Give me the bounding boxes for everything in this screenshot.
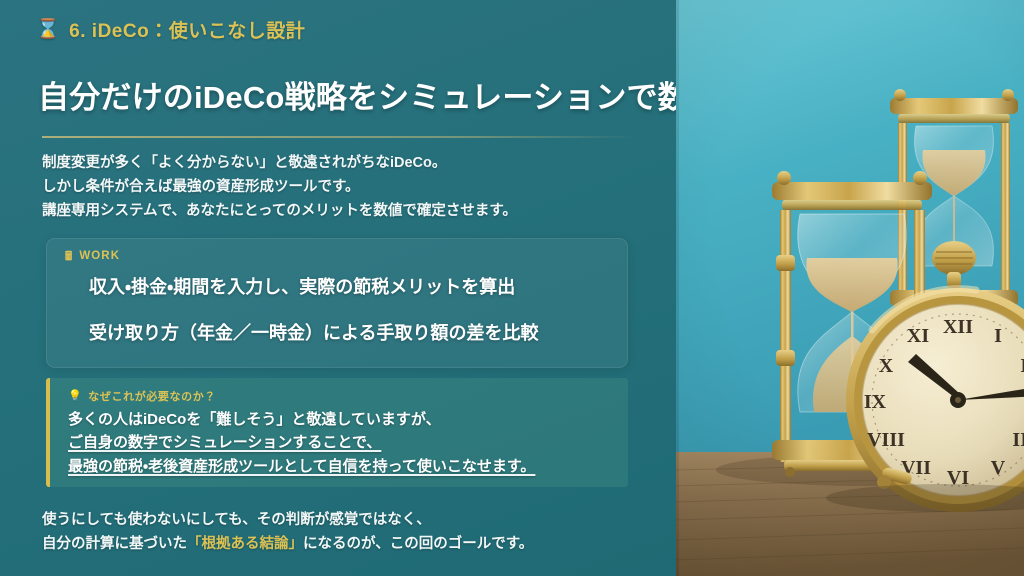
page-title: 自分だけのiDeCo戦略をシミュレーションで数値化 bbox=[38, 72, 636, 117]
footer-line-2: 自分の計算に基づいた「根拠ある結論」になるのが、この回のゴールです。 bbox=[42, 532, 636, 556]
lead-line-3: 講座専用システムで、あなたにとってのメリットを数値で確定させます。 bbox=[42, 199, 636, 223]
work-card-label-text: WORK bbox=[79, 250, 120, 262]
slide-root: ⌛ 6. iDeCo：使いこなし設計 自分だけのiDeCo戦略をシミュレーション… bbox=[0, 0, 1024, 576]
work-card: 🖩 WORK 収入・掛金・期間を入力し、実際の節税メリットを算出 受け取り方（年… bbox=[46, 238, 628, 368]
why-callout-heading-text: なぜこれが必要なのか？ bbox=[88, 388, 216, 404]
why-callout: 💡 なぜこれが必要なのか？ 多くの人はiDeCoを「難しそう」と敬遠していますが… bbox=[46, 378, 628, 487]
svg-text:VIII: VIII bbox=[867, 429, 905, 451]
content-panel: ⌛ 6. iDeCo：使いこなし設計 自分だけのiDeCo戦略をシミュレーション… bbox=[0, 0, 676, 576]
work-item: 収入・掛金・期間を入力し、実際の節税メリットを算出 bbox=[89, 275, 609, 299]
section-eyebrow-label: 6. iDeCo：使いこなし設計 bbox=[69, 16, 305, 43]
title-divider bbox=[42, 136, 637, 138]
svg-text:II: II bbox=[1020, 355, 1024, 377]
footer-paragraph: 使うにしても使わないにしても、その判断が感覚ではなく、 自分の計算に基づいた「根… bbox=[42, 508, 636, 556]
why-callout-heading: 💡 なぜこれが必要なのか？ bbox=[68, 388, 216, 404]
lead-line-1: 制度変更が多く「よく分からない」と敬遠されがちなiDeCo。 bbox=[42, 151, 636, 175]
footer-highlight: 「根拠ある結論」 bbox=[187, 536, 303, 552]
work-card-items: 収入・掛金・期間を入力し、実際の節税メリットを算出 受け取り方（年金／一時金）に… bbox=[89, 275, 609, 346]
svg-text:IIII: IIII bbox=[1012, 429, 1024, 451]
svg-text:V: V bbox=[991, 457, 1006, 479]
lightbulb-icon: 💡 bbox=[68, 391, 82, 402]
hourglass-clock-illustration: XII I II III IIII V VI VII VIII IX X XI bbox=[676, 0, 1024, 576]
work-item: 受け取り方（年金／一時金）による手取り額の差を比較 bbox=[89, 321, 609, 345]
callout-line: 多くの人はiDeCoを「難しそう」と敬遠していますが、 bbox=[68, 408, 441, 431]
footer-line-2-after: になるのが、この回のゴールです。 bbox=[303, 536, 533, 552]
work-card-label: 🖩 WORK bbox=[65, 250, 120, 262]
why-callout-body: 多くの人はiDeCoを「難しそう」と敬遠していますが、 ご自身の数字でシミュレー… bbox=[68, 408, 614, 478]
footer-line-2-before: 自分の計算に基づいた bbox=[42, 536, 187, 552]
hero-photo: XII I II III IIII V VI VII VIII IX X XI bbox=[676, 0, 1024, 576]
svg-text:I: I bbox=[994, 325, 1002, 347]
svg-text:XII: XII bbox=[943, 316, 973, 338]
callout-line: ご自身の数字でシミュレーションすることで、 bbox=[68, 431, 381, 454]
section-eyebrow: ⌛ 6. iDeCo：使いこなし設計 bbox=[36, 16, 305, 43]
lead-paragraph: 制度変更が多く「よく分からない」と敬遠されがちなiDeCo。 しかし条件が合えば… bbox=[42, 151, 636, 223]
calculator-icon: 🖩 bbox=[65, 250, 73, 262]
svg-text:XI: XI bbox=[907, 325, 929, 347]
hourglass-icon: ⌛ bbox=[36, 20, 60, 39]
footer-line-1: 使うにしても使わないにしても、その判断が感覚ではなく、 bbox=[42, 508, 636, 532]
lead-line-2: しかし条件が合えば最強の資産形成ツールです。 bbox=[42, 175, 636, 199]
callout-line: 最強の節税・老後資産形成ツールとして自信を持って使いこなせます。 bbox=[68, 455, 535, 478]
svg-text:X: X bbox=[879, 355, 894, 377]
svg-text:IX: IX bbox=[864, 391, 887, 413]
panel-edge-shadow bbox=[676, 0, 679, 576]
